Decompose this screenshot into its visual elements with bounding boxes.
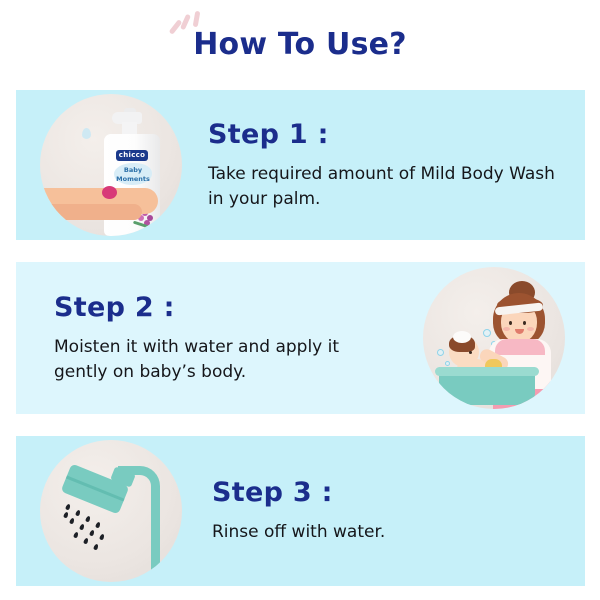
mother-blush-left [503, 327, 510, 331]
step-1-copy: Step 1 : Take required amount of Mild Bo… [184, 119, 585, 211]
bathtub-shape [439, 371, 535, 405]
mother-top-strap [495, 339, 545, 355]
bottle-in-palm-icon: chicco Baby Moments Mild Body Wash with … [40, 94, 182, 236]
step-1-label: Step 1 : [208, 119, 571, 150]
mother-bathing-baby-icon [423, 267, 565, 409]
step-3-copy: Step 3 : Rinse off with water. [184, 477, 585, 545]
bubble-icon [483, 329, 491, 337]
step-2-text: Moisten it with water and apply it gentl… [54, 335, 384, 384]
shower-pipe [151, 498, 160, 582]
product-dollop-icon [102, 186, 117, 199]
step-1-illustration: chicco Baby Moments Mild Body Wash with … [34, 90, 184, 240]
mother-eye-left [509, 321, 512, 325]
step-1-panel: chicco Baby Moments Mild Body Wash with … [16, 90, 585, 240]
step-2-panel: Step 2 : Moisten it with water and apply… [16, 262, 585, 414]
step-2-copy: Step 2 : Moisten it with water and apply… [16, 292, 417, 384]
step-1-text: Take required amount of Mild Body Wash i… [208, 162, 568, 211]
header: How To Use? [0, 0, 600, 88]
page-title: How To Use? [0, 27, 600, 62]
shower-head-icon [40, 440, 182, 582]
how-to-use-infographic: How To Use? chicco Baby Moments Mild Bod… [0, 0, 600, 600]
step-3-illustration [34, 436, 184, 586]
step-3-panel: Step 3 : Rinse off with water. [16, 436, 585, 586]
step-3-text: Rinse off with water. [212, 520, 571, 545]
palm-shape [40, 204, 142, 220]
baby-foam [453, 331, 471, 343]
mother-eye-right [523, 321, 526, 325]
step-3-label: Step 3 : [212, 477, 571, 508]
mother-blush-right [527, 327, 534, 331]
water-droplet-icon [82, 128, 91, 139]
brand-logo: chicco [116, 150, 148, 161]
bubble-icon [437, 349, 444, 356]
baby-eye [469, 351, 472, 354]
bathtub-rim [435, 367, 539, 376]
step-2-label: Step 2 : [54, 292, 407, 323]
bubble-icon [445, 361, 450, 366]
product-range-label: Baby Moments [114, 163, 152, 185]
step-2-illustration [417, 263, 567, 413]
range-line-1: Baby Moments [116, 166, 150, 183]
